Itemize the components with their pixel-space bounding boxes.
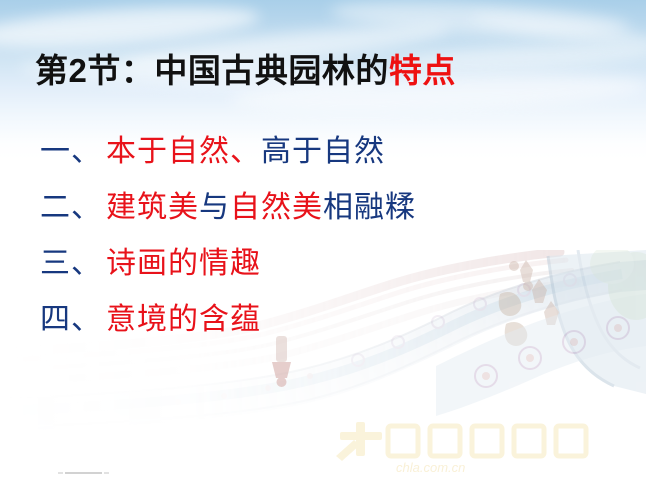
title-main-text: 第2节：中国古典园林的 — [35, 52, 389, 89]
svg-text:chla.com.cn: chla.com.cn — [396, 460, 465, 475]
list-item-marker: 三、 — [40, 247, 102, 280]
list-item-text-segment: 高于自然 — [261, 135, 385, 168]
list-item-text-segment: 本于自然、 — [106, 135, 261, 168]
list-item: 三、诗画的情趣 — [40, 236, 600, 292]
list-item: 一、本于自然、高于自然 — [40, 124, 600, 180]
list-item-text-segment: 意境的含蕴 — [106, 303, 261, 336]
list-item-text-segment: 建筑美 — [106, 191, 199, 224]
list-item-text-segment: 与 — [199, 191, 230, 224]
list-item: 二、建筑美与自然美相融糅 — [40, 180, 600, 236]
watermark: chla.com.cn — [336, 422, 586, 475]
outline-list: 一、本于自然、高于自然 二、建筑美与自然美相融糅 三、诗画的情趣 四、意境的含蕴 — [40, 124, 600, 348]
list-item-marker: 四、 — [40, 303, 102, 336]
page-title: 第2节：中国古典园林的特点 — [35, 50, 456, 91]
list-item-marker: 二、 — [40, 191, 102, 224]
list-item-marker: 一、 — [40, 135, 102, 168]
title-highlight-text: 特点 — [389, 52, 456, 89]
list-item: 四、意境的含蕴 — [40, 292, 600, 348]
bottom-divider — [65, 472, 102, 474]
list-item-text-segment: 诗画的情趣 — [106, 247, 261, 280]
list-item-text-segment: 自然美 — [230, 191, 323, 224]
list-item-text-segment: 相融糅 — [323, 191, 416, 224]
presentation-slide: chla.com.cn 第2节：中国古典园林的特点 一、本于自然、高于自然 二、… — [0, 0, 646, 478]
